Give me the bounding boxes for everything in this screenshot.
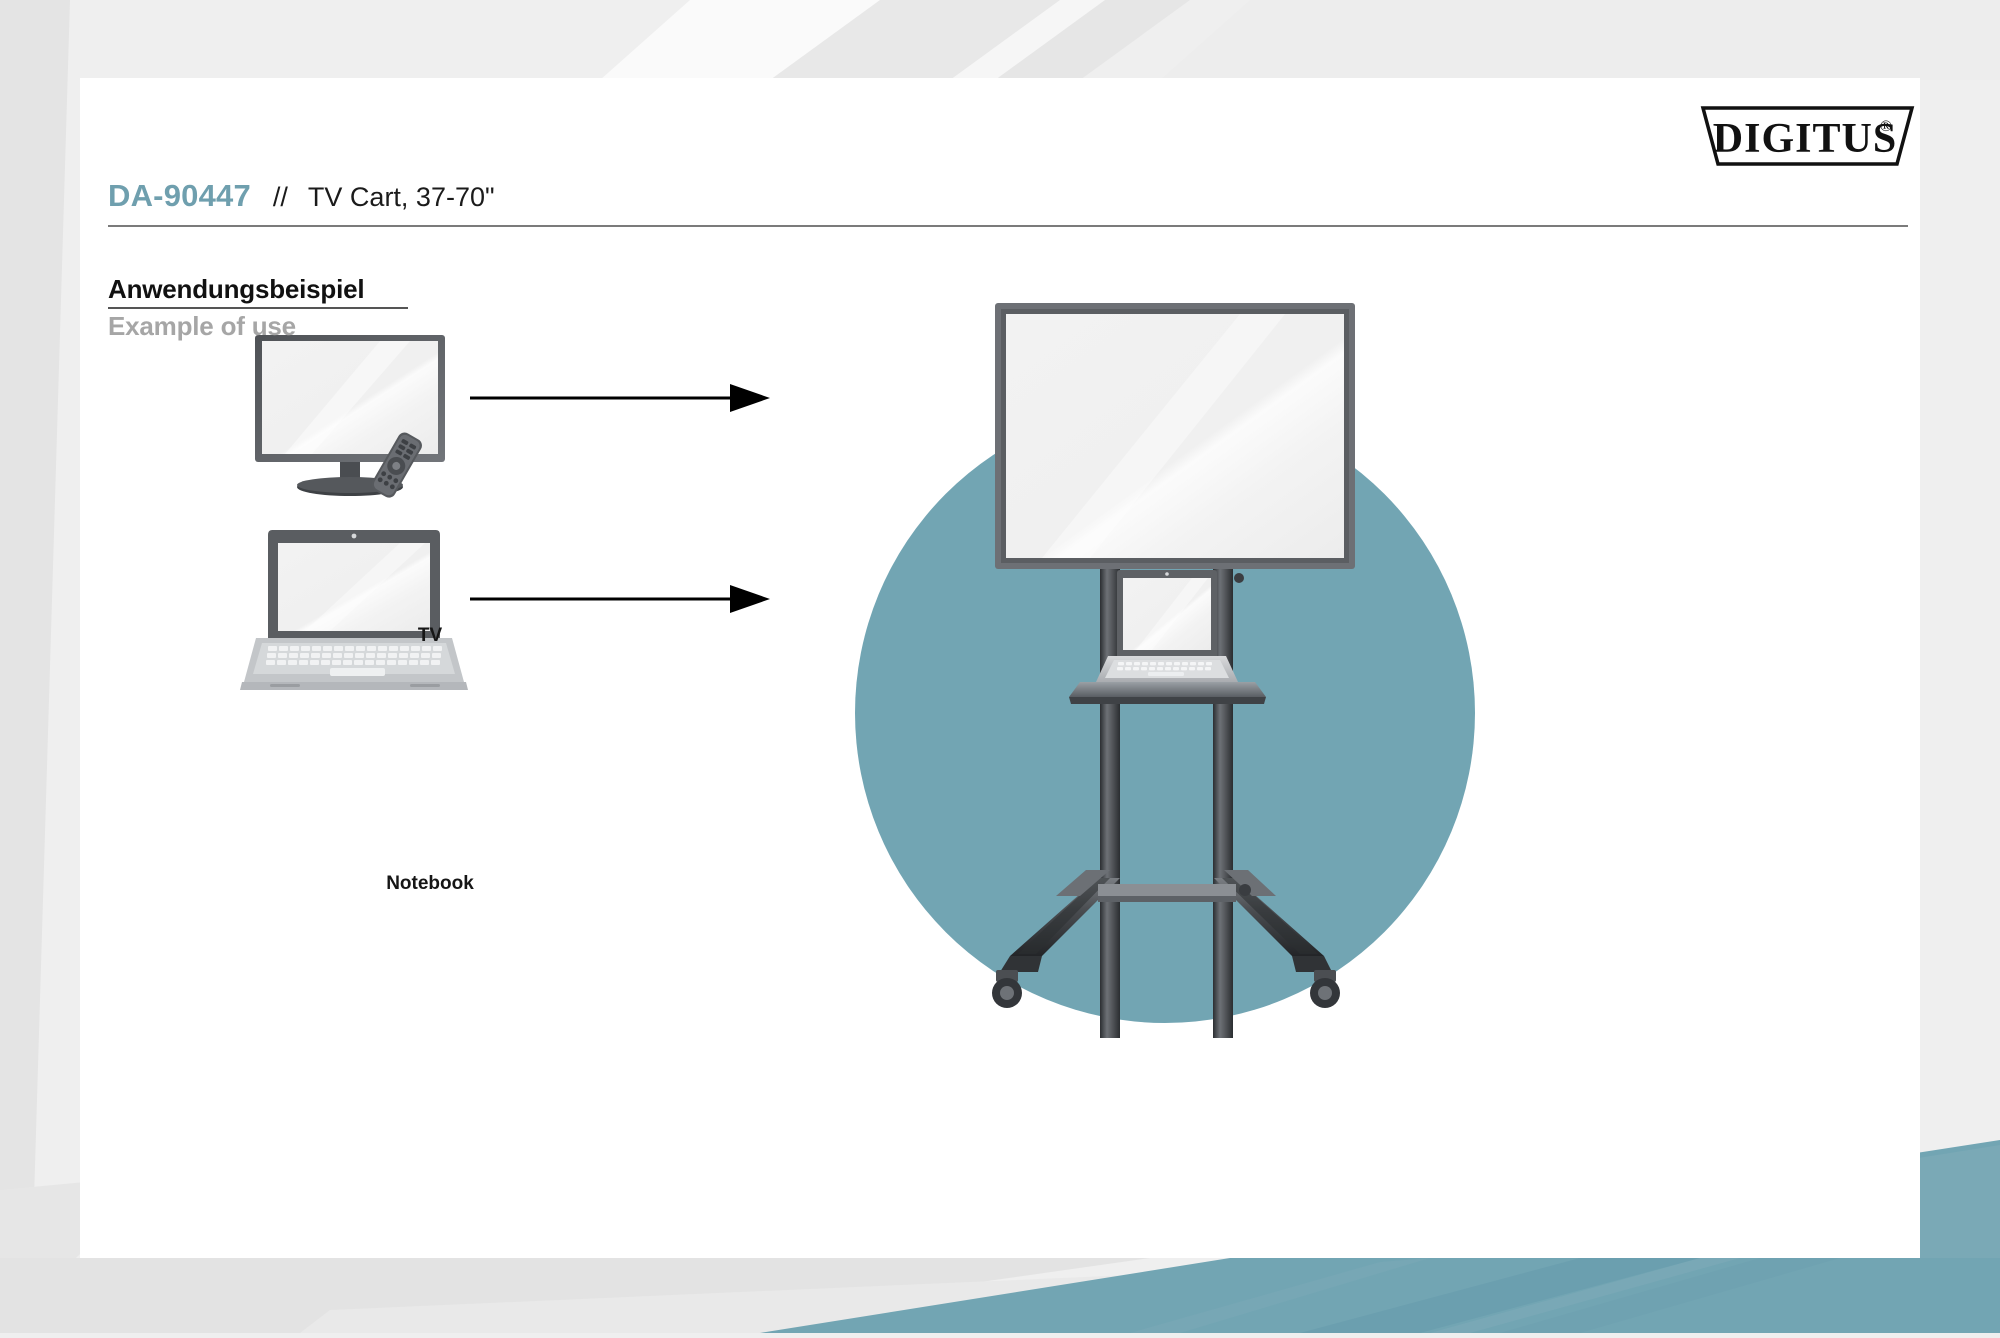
- cart-mounted-television: [995, 303, 1355, 569]
- arrow-head-tv: [730, 384, 770, 412]
- product-sku: DA-90447: [108, 178, 251, 214]
- section-heading-underline: [108, 307, 408, 309]
- title-separator: //: [273, 182, 288, 213]
- caption-tv: TV: [375, 625, 485, 647]
- television-icon: [255, 335, 445, 496]
- illustration-stage: [80, 78, 1920, 1258]
- cart-caster-left: [992, 970, 1022, 1008]
- section-heading-en: Example of use: [108, 311, 296, 342]
- title-divider: [108, 225, 1908, 227]
- digitus-logo: DIGITUS ®: [1700, 105, 1915, 167]
- laptop-icon: [240, 530, 468, 690]
- caption-notebook: Notebook: [340, 873, 520, 895]
- product-title: TV Cart, 37-70": [308, 182, 495, 213]
- section-heading-de: Anwendungsbeispiel: [108, 274, 364, 305]
- cart-caster-right: [1310, 970, 1340, 1008]
- logo-wordmark: DIGITUS: [1713, 116, 1897, 162]
- registered-trademark-icon: ®: [1880, 118, 1892, 135]
- cart-shelf: [1069, 682, 1266, 704]
- cart-mounted-laptop: [1096, 570, 1238, 682]
- arrow-head-notebook: [730, 585, 770, 613]
- product-title-row: DA-90447 // TV Cart, 37-70": [108, 178, 495, 214]
